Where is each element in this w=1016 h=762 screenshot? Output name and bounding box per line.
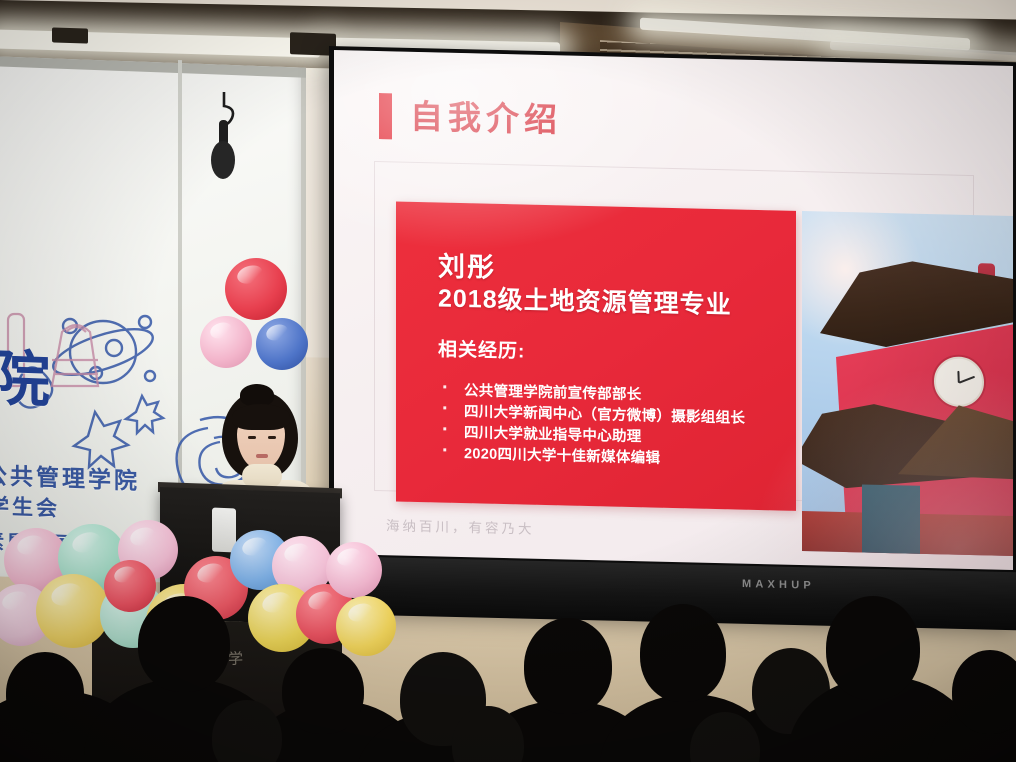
whiteboard-line-2: 学生会	[0, 490, 60, 523]
balloon-pink	[326, 542, 382, 598]
whiteboard-big-text: 院	[0, 330, 54, 419]
light-mount-1	[52, 27, 88, 43]
audience-head	[826, 596, 920, 700]
audience-head	[524, 618, 612, 714]
tower-window	[862, 484, 920, 555]
tower-clock	[934, 356, 984, 407]
whiteboard-line-1: 公共管理学院	[0, 456, 140, 496]
display-brand-label: MAXHUP	[742, 578, 815, 592]
audience-head	[138, 596, 230, 692]
presenter-eye-right	[268, 436, 276, 439]
audience-head	[952, 650, 1016, 734]
slide-footer-motto: 海纳百川，有容乃大	[386, 514, 535, 537]
presenter-fringe	[232, 404, 290, 430]
slide-title: 自我介绍	[410, 94, 562, 144]
balloon-red-top	[225, 258, 287, 320]
presenter-hair-bun	[240, 384, 274, 406]
campus-tower-photo	[802, 211, 1013, 556]
balloon-red	[104, 560, 156, 612]
presenter-eye-left	[248, 436, 256, 439]
balloon-yellow	[36, 574, 110, 648]
experience-list: 公共管理学院前宣传部部长 四川大学新闻中心（官方微博）摄影组组长 四川大学就业指…	[426, 380, 786, 472]
presenter-major: 2018级土地资源管理专业	[438, 278, 732, 321]
title-accent-bar	[379, 93, 392, 139]
audience-head	[640, 604, 726, 702]
hanging-microphone-icon	[198, 92, 254, 202]
presentation-slide: 自我介绍 刘彤 2018级土地资源管理专业 相关经历: 公共管理学院前宣传部部长…	[334, 50, 1013, 570]
balloon-yellow	[336, 596, 396, 656]
presenter-mouth	[256, 454, 268, 458]
balloon-pink-top	[200, 316, 252, 368]
experience-heading: 相关经历:	[438, 334, 525, 363]
balloon-blue-top	[256, 318, 308, 370]
audience-head	[6, 652, 84, 734]
presentation-photo-scene: 院 公共管理学院 学生会 素质拓展中心 MAXHUP 自我介绍 刘彤 2018级…	[0, 0, 1016, 762]
audience-head	[282, 648, 364, 734]
profile-red-block: 刘彤 2018级土地资源管理专业 相关经历: 公共管理学院前宣传部部长 四川大学…	[396, 201, 796, 510]
